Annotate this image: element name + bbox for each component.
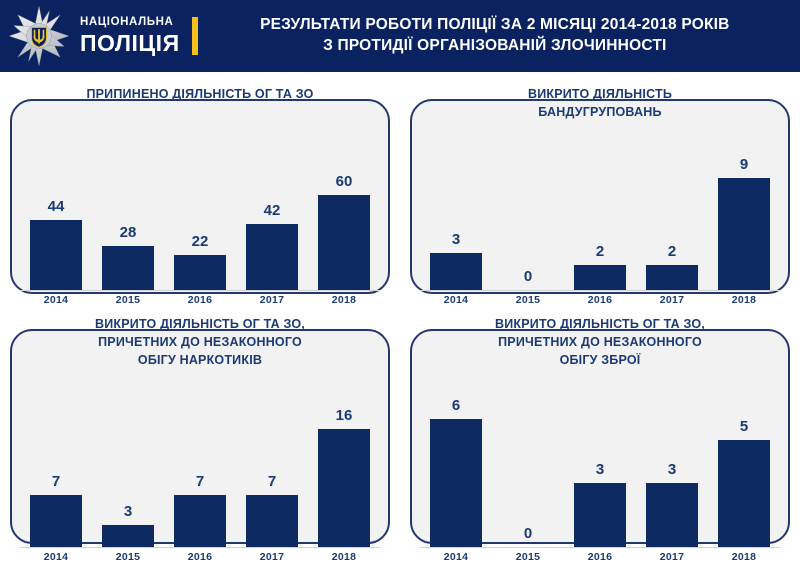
chart-title-1: ВИКРИТО ДІЯЛЬНІСТЬБАНДУГРУПОВАНЬ	[410, 72, 790, 122]
chart-panel-0: ПРИПИНЕНО ДІЯЛЬНІСТЬ ОГ ТА ЗО 4428224260…	[0, 72, 400, 302]
bar[interactable]	[102, 525, 154, 547]
chart-panel-2: ВИКРИТО ДІЯЛЬНІСТЬ ОГ ТА ЗО,ПРИЧЕТНИХ ДО…	[0, 302, 400, 554]
chart-plot-3: 60335	[420, 372, 780, 547]
bar-group[interactable]: 7	[20, 372, 92, 547]
bar-area: 3	[564, 372, 636, 547]
x-axis-label: 2014	[20, 551, 92, 563]
bar-area: 3	[636, 372, 708, 547]
x-axis-label: 2018	[708, 551, 780, 563]
bar-area: 5	[708, 372, 780, 547]
bar-group[interactable]: 9	[708, 117, 780, 290]
x-axis-label: 2018	[308, 551, 380, 563]
bar[interactable]	[718, 440, 770, 547]
chart-title-2-line-1: ПРИЧЕТНИХ ДО НЕЗАКОННОГО	[10, 334, 390, 352]
bar-group[interactable]: 28	[92, 117, 164, 290]
bar-group[interactable]: 6	[420, 372, 492, 547]
x-axis-label: 2015	[492, 551, 564, 563]
bar-value-label: 7	[268, 474, 276, 489]
bar-group[interactable]: 3	[636, 372, 708, 547]
bar-group[interactable]: 2	[636, 117, 708, 290]
bar[interactable]	[430, 419, 482, 547]
bar-value-label: 60	[336, 174, 353, 189]
police-star-trident-emblem-icon	[8, 5, 70, 67]
chart-title-2-line-0: ВИКРИТО ДІЯЛЬНІСТЬ ОГ ТА ЗО,	[10, 316, 390, 334]
bar-value-label: 0	[524, 526, 532, 541]
chart-plot-2: 737716	[20, 372, 380, 547]
bar-area: 42	[236, 117, 308, 290]
bar-area: 0	[492, 117, 564, 290]
bar[interactable]	[174, 495, 226, 547]
bar-group[interactable]: 7	[236, 372, 308, 547]
bar-group[interactable]: 0	[492, 117, 564, 290]
x-axis-label: 2017	[236, 551, 308, 563]
chart-xlabels-2: 20142015201620172018	[20, 551, 380, 563]
bar-area: 16	[308, 372, 380, 547]
x-axis-label: 2014	[420, 551, 492, 563]
chart-axis-2	[20, 547, 380, 548]
x-axis-label: 2015	[92, 551, 164, 563]
chart-title-2-line-2: ОБІГУ НАРКОТИКІВ	[10, 352, 390, 370]
bar-group[interactable]: 22	[164, 117, 236, 290]
chart-title-0-line-0: ПРИПИНЕНО ДІЯЛЬНІСТЬ ОГ ТА ЗО	[10, 86, 390, 104]
bar-group[interactable]: 7	[164, 372, 236, 547]
page-title: РЕЗУЛЬТАТИ РОБОТИ ПОЛІЦІЇ ЗА 2 МІСЯЦІ 20…	[198, 15, 800, 57]
chart-xlabels-3: 20142015201620172018	[420, 551, 780, 563]
bar-area: 6	[420, 372, 492, 547]
bar-area: 2	[636, 117, 708, 290]
bar-group[interactable]: 2	[564, 117, 636, 290]
bar[interactable]	[646, 483, 698, 547]
bar-area: 7	[20, 372, 92, 547]
x-axis-label: 2017	[636, 551, 708, 563]
bar[interactable]	[318, 195, 370, 290]
bar-area: 7	[236, 372, 308, 547]
bar-group[interactable]: 60	[308, 117, 380, 290]
page-title-line-1: РЕЗУЛЬТАТИ РОБОТИ ПОЛІЦІЇ ЗА 2 МІСЯЦІ 20…	[204, 15, 786, 36]
chart-title-1-line-0: ВИКРИТО ДІЯЛЬНІСТЬ	[410, 86, 790, 104]
bar-area: 60	[308, 117, 380, 290]
bar-group[interactable]: 42	[236, 117, 308, 290]
bar-group[interactable]: 3	[420, 117, 492, 290]
bar-value-label: 44	[48, 199, 65, 214]
bar-area: 28	[92, 117, 164, 290]
bar-area: 0	[492, 372, 564, 547]
bar[interactable]	[246, 224, 298, 291]
bar-area: 7	[164, 372, 236, 547]
bar-area: 9	[708, 117, 780, 290]
x-axis-label: 2016	[564, 551, 636, 563]
bar[interactable]	[30, 220, 82, 290]
chart-plot-0: 4428224260	[20, 117, 380, 290]
bar[interactable]	[30, 495, 82, 547]
bar-group[interactable]: 3	[564, 372, 636, 547]
chart-axis-1	[420, 290, 780, 291]
bar-value-label: 5	[740, 419, 748, 434]
bar-group[interactable]: 16	[308, 372, 380, 547]
chart-title-3: ВИКРИТО ДІЯЛЬНІСТЬ ОГ ТА ЗО,ПРИЧЕТНИХ ДО…	[410, 302, 790, 369]
chart-axis-3	[420, 547, 780, 548]
chart-panel-3: ВИКРИТО ДІЯЛЬНІСТЬ ОГ ТА ЗО,ПРИЧЕТНИХ ДО…	[400, 302, 800, 554]
brand-line-national: НАЦІОНАЛЬНА	[80, 17, 180, 29]
bar-value-label: 16	[336, 408, 353, 423]
chart-title-3-line-1: ПРИЧЕТНИХ ДО НЕЗАКОННОГО	[410, 334, 790, 352]
page-title-line-2: З ПРОТИДІЇ ОРГАНІЗОВАНІЙ ЗЛОЧИННОСТІ	[204, 36, 786, 57]
bar-area: 3	[420, 117, 492, 290]
bar-area: 2	[564, 117, 636, 290]
bar-value-label: 3	[452, 232, 460, 247]
bar[interactable]	[246, 495, 298, 547]
bar-value-label: 2	[668, 244, 676, 259]
bar[interactable]	[430, 253, 482, 290]
bar-value-label: 0	[524, 269, 532, 284]
bar-value-label: 22	[192, 234, 209, 249]
bar-value-label: 3	[124, 504, 132, 519]
bar-area: 3	[92, 372, 164, 547]
bar[interactable]	[718, 178, 770, 290]
charts-grid: ПРИПИНЕНО ДІЯЛЬНІСТЬ ОГ ТА ЗО 4428224260…	[0, 72, 800, 554]
bar-group[interactable]: 0	[492, 372, 564, 547]
chart-title-3-line-0: ВИКРИТО ДІЯЛЬНІСТЬ ОГ ТА ЗО,	[410, 316, 790, 334]
bar-value-label: 2	[596, 244, 604, 259]
chart-title-1-line-1: БАНДУГРУПОВАНЬ	[410, 104, 790, 122]
bar[interactable]	[574, 265, 626, 290]
bar-group[interactable]: 3	[92, 372, 164, 547]
bar-area: 22	[164, 117, 236, 290]
bar-value-label: 28	[120, 225, 137, 240]
bar[interactable]	[174, 255, 226, 290]
bar-value-label: 7	[52, 474, 60, 489]
page-header: НАЦІОНАЛЬНА ПОЛІЦІЯ РЕЗУЛЬТАТИ РОБОТИ ПО…	[0, 0, 800, 72]
bar[interactable]	[102, 246, 154, 290]
bar-value-label: 3	[596, 462, 604, 477]
bar-group[interactable]: 44	[20, 117, 92, 290]
bar-group[interactable]: 5	[708, 372, 780, 547]
brand-line-police: ПОЛІЦІЯ	[80, 32, 180, 55]
chart-title-2: ВИКРИТО ДІЯЛЬНІСТЬ ОГ ТА ЗО,ПРИЧЕТНИХ ДО…	[10, 302, 390, 369]
bar-value-label: 42	[264, 203, 281, 218]
chart-title-0: ПРИПИНЕНО ДІЯЛЬНІСТЬ ОГ ТА ЗО	[10, 72, 390, 104]
bar-value-label: 9	[740, 157, 748, 172]
bar-value-label: 7	[196, 474, 204, 489]
chart-panel-1: ВИКРИТО ДІЯЛЬНІСТЬБАНДУГРУПОВАНЬ 30229 2…	[400, 72, 800, 302]
bar[interactable]	[646, 265, 698, 290]
chart-title-3-line-2: ОБІГУ ЗБРОЇ	[410, 352, 790, 370]
bar[interactable]	[574, 483, 626, 547]
bar[interactable]	[318, 429, 370, 547]
chart-plot-1: 30229	[420, 117, 780, 290]
bar-area: 44	[20, 117, 92, 290]
brand-text: НАЦІОНАЛЬНА ПОЛІЦІЯ	[80, 17, 180, 55]
brand-block: НАЦІОНАЛЬНА ПОЛІЦІЯ	[0, 5, 198, 67]
chart-axis-0	[20, 290, 380, 291]
x-axis-label: 2016	[164, 551, 236, 563]
bar-value-label: 6	[452, 398, 460, 413]
bar-value-label: 3	[668, 462, 676, 477]
